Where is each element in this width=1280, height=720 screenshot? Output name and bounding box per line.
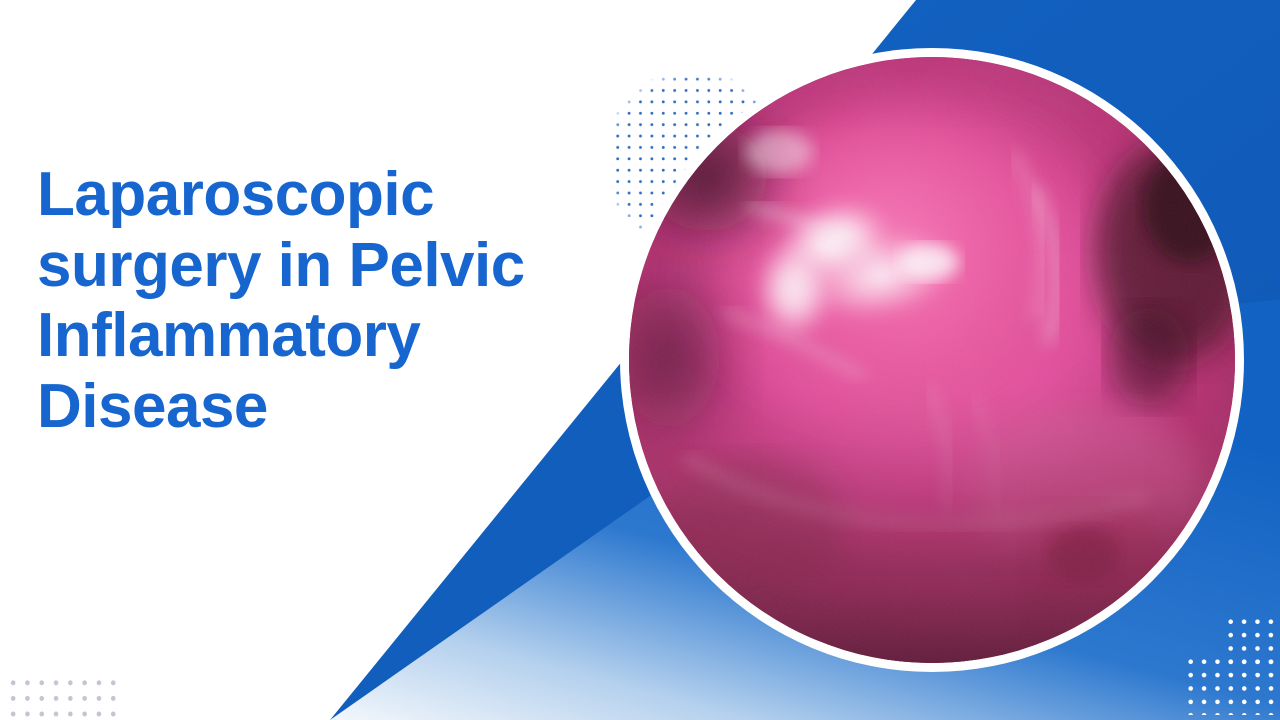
media-circle-frame [620, 48, 1244, 672]
page-title: Laparoscopic surgery in Pelvic Inflammat… [37, 160, 577, 443]
laparoscopic-photo [629, 57, 1235, 663]
dot-grid-bottom-left-icon [6, 675, 118, 717]
dot-grid-bottom-right-lower-icon [1184, 655, 1280, 715]
presentation-slide: Laparoscopic surgery in Pelvic Inflammat… [0, 0, 1280, 720]
